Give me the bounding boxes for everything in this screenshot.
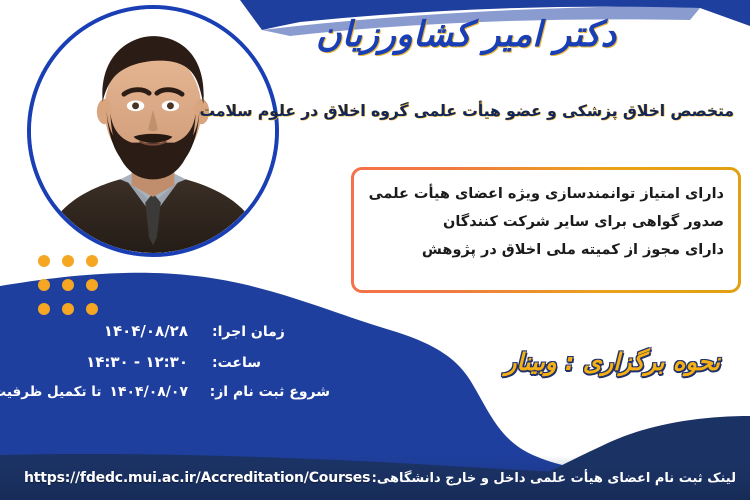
schedule-block: زمان اجرا: ۱۴۰۴/۰۸/۲۸ ساعت: ۱۲:۳۰ - ۱۴:۳… bbox=[0, 322, 330, 415]
speaker-name: دکتر امیر کشاورزیان bbox=[316, 14, 736, 58]
dot bbox=[86, 255, 98, 267]
highlight-item: صدور گواهی برای سایر شرکت کنندگان bbox=[368, 209, 724, 237]
decorative-dot-grid bbox=[38, 255, 98, 315]
dot bbox=[38, 303, 50, 315]
highlight-item: دارای مجوز از کمیته ملی اخلاق در پژوهش bbox=[368, 237, 724, 265]
event-format-label: نحوه برگزاری : وبینار bbox=[505, 348, 720, 376]
schedule-registration-label: شروع ثبت نام از: bbox=[202, 384, 330, 400]
schedule-registration-value: ۱۴۰۴/۰۸/۰۷ bbox=[109, 384, 202, 400]
webinar-poster: دکتر امیر کشاورزیان متخصص اخلاق پزشکی و … bbox=[0, 0, 750, 500]
speaker-portrait bbox=[27, 5, 279, 257]
highlights-box: دارای امتیاز توانمندسازی ویژه اعضای هیأت… bbox=[351, 167, 741, 293]
speaker-portrait-image bbox=[31, 9, 275, 253]
dot bbox=[62, 255, 74, 267]
dot bbox=[62, 279, 74, 291]
dot bbox=[62, 303, 74, 315]
schedule-registration-note: تا تکمیل ظرفیت bbox=[0, 384, 109, 400]
schedule-row-date: زمان اجرا: ۱۴۰۴/۰۸/۲۸ bbox=[0, 322, 330, 353]
schedule-time-label: ساعت: bbox=[202, 355, 330, 371]
schedule-date-label: زمان اجرا: bbox=[202, 324, 330, 340]
registration-url-link[interactable]: https://fdedc.mui.ac.ir/Accreditation/Co… bbox=[24, 470, 370, 486]
dot bbox=[86, 279, 98, 291]
registration-link-label: لینک ثبت نام اعضای هیأت علمی داخل و خارج… bbox=[372, 471, 736, 486]
highlight-item: دارای امتیاز توانمندسازی ویژه اعضای هیأت… bbox=[368, 181, 724, 209]
schedule-date-value: ۱۴۰۴/۰۸/۲۸ bbox=[104, 322, 202, 340]
dot bbox=[38, 255, 50, 267]
schedule-row-time: ساعت: ۱۲:۳۰ - ۱۴:۳۰ bbox=[0, 353, 330, 384]
schedule-time-value: ۱۲:۳۰ - ۱۴:۳۰ bbox=[86, 353, 202, 371]
dot bbox=[38, 279, 50, 291]
schedule-row-registration: شروع ثبت نام از: ۱۴۰۴/۰۸/۰۷ تا تکمیل ظرف… bbox=[0, 384, 330, 415]
speaker-subtitle: متخصص اخلاق پزشکی و عضو هیأت علمی گروه ا… bbox=[264, 100, 734, 122]
dot bbox=[86, 303, 98, 315]
